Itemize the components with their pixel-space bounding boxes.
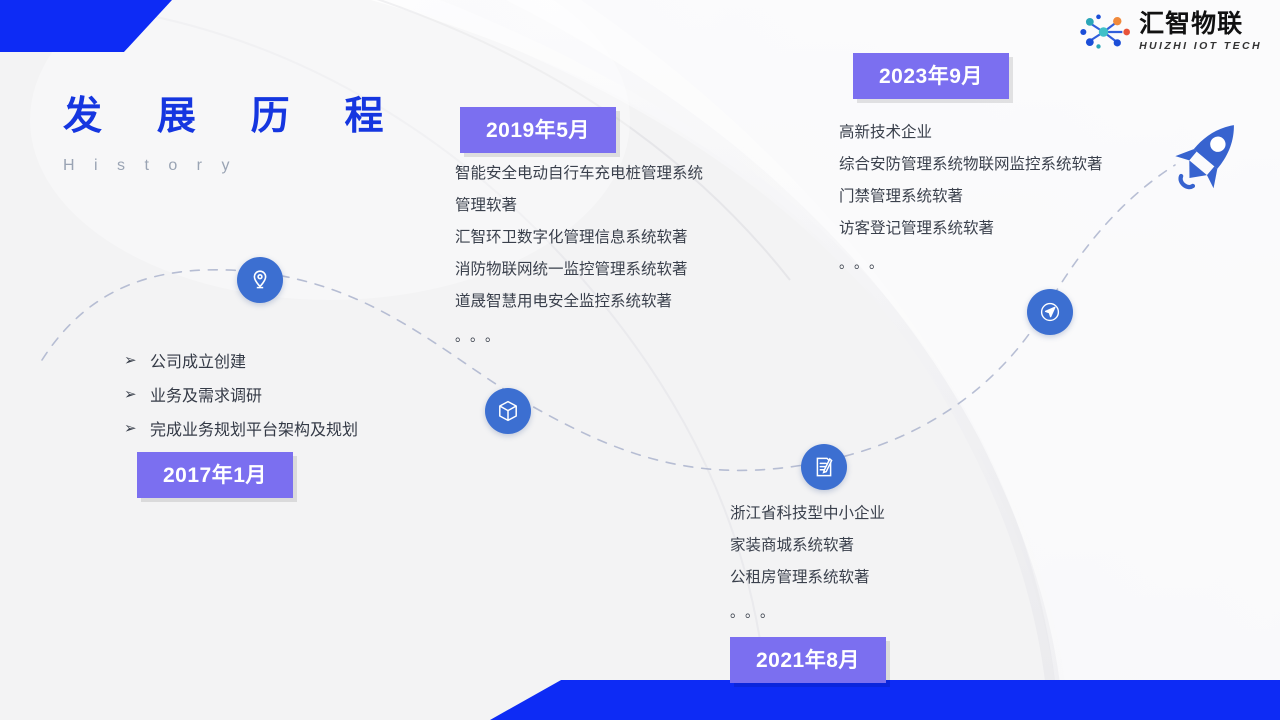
paper-plane-icon xyxy=(1038,300,1062,324)
milestone-2019-items: 智能安全电动自行车充电桩管理系统 管理软著 汇智环卫数字化管理信息系统软著 消防… xyxy=(455,158,703,346)
page-title: 发 展 历 程 xyxy=(63,97,406,136)
document-edit-icon xyxy=(812,455,836,479)
bullet-arrow-icon: ➢ xyxy=(124,385,150,403)
date-badge-2019[interactable]: 2019年5月 xyxy=(460,107,616,153)
list-item-label: 完成业务规划平台架构及规划 xyxy=(150,416,358,440)
cube-box-icon xyxy=(496,399,520,423)
bullet-arrow-icon: ➢ xyxy=(124,419,150,437)
list-item-label: 家装商城系统软著 xyxy=(730,530,885,562)
list-item: ➢ 公司成立创建 xyxy=(124,343,358,377)
milestone-2017-items: ➢ 公司成立创建 ➢ 业务及需求调研 ➢ 完成业务规划平台架构及规划 xyxy=(124,343,358,445)
list-item-label: 汇智环卫数字化管理信息系统软著 xyxy=(455,222,703,254)
list-item: ➢ 业务及需求调研 xyxy=(124,377,358,411)
milestone-2021-items: 浙江省科技型中小企业 家装商城系统软著 公租房管理系统软著 。。。 xyxy=(730,498,885,622)
list-item-label: 智能安全电动自行车充电桩管理系统 xyxy=(455,158,703,190)
list-item-label: 业务及需求调研 xyxy=(150,382,262,406)
ellipsis-marker: 。。。 xyxy=(839,253,1103,273)
timeline-node-2019[interactable] xyxy=(485,388,531,434)
milestone-2023-items: 高新技术企业 综合安防管理系统物联网监控系统软著 门禁管理系统软著 访客登记管理… xyxy=(839,117,1103,273)
corner-banner-bottom-right xyxy=(490,680,1280,720)
date-badge-2021[interactable]: 2021年8月 xyxy=(730,637,886,683)
timeline-node-2021[interactable] xyxy=(801,444,847,490)
molecule-network-icon xyxy=(1079,12,1131,52)
list-item-label: 公租房管理系统软著 xyxy=(730,562,885,594)
list-item-label: 高新技术企业 xyxy=(839,117,1103,149)
timeline-node-2023[interactable] xyxy=(1027,289,1073,335)
list-item-label: 消防物联网统一监控管理系统软著 xyxy=(455,254,703,286)
date-badge-2017[interactable]: 2017年1月 xyxy=(137,452,293,498)
ellipsis-marker: 。。。 xyxy=(455,326,703,346)
timeline-node-2017[interactable] xyxy=(237,257,283,303)
bullet-arrow-icon: ➢ xyxy=(124,351,150,369)
list-item-label: 综合安防管理系统物联网监控系统软著 xyxy=(839,149,1103,181)
list-item: ➢ 完成业务规划平台架构及规划 xyxy=(124,411,358,445)
list-item-label: 门禁管理系统软著 xyxy=(839,181,1103,213)
list-item-label: 浙江省科技型中小企业 xyxy=(730,498,885,530)
logo-company-name-cn: 汇智物联 xyxy=(1139,12,1262,37)
list-item-label: 道晟智慧用电安全监控系统软著 xyxy=(455,286,703,318)
page-subtitle: H i s t o r y xyxy=(63,157,406,175)
rocket-icon xyxy=(1160,108,1256,204)
page-title-group: 发 展 历 程 H i s t o r y xyxy=(63,97,406,175)
list-item-label: 公司成立创建 xyxy=(150,348,246,372)
ellipsis-marker: 。。。 xyxy=(730,602,885,622)
list-item-label: 访客登记管理系统软著 xyxy=(839,213,1103,245)
logo-company-name-en: HUIZHI IOT TECH xyxy=(1139,41,1262,52)
list-item-label: 管理软著 xyxy=(455,190,703,222)
slide-canvas: 汇智物联 HUIZHI IOT TECH 发 展 历 程 H i s t o r… xyxy=(0,0,1280,720)
location-pin-icon xyxy=(248,268,272,292)
company-logo: 汇智物联 HUIZHI IOT TECH xyxy=(1079,12,1262,52)
date-badge-2023[interactable]: 2023年9月 xyxy=(853,53,1009,99)
